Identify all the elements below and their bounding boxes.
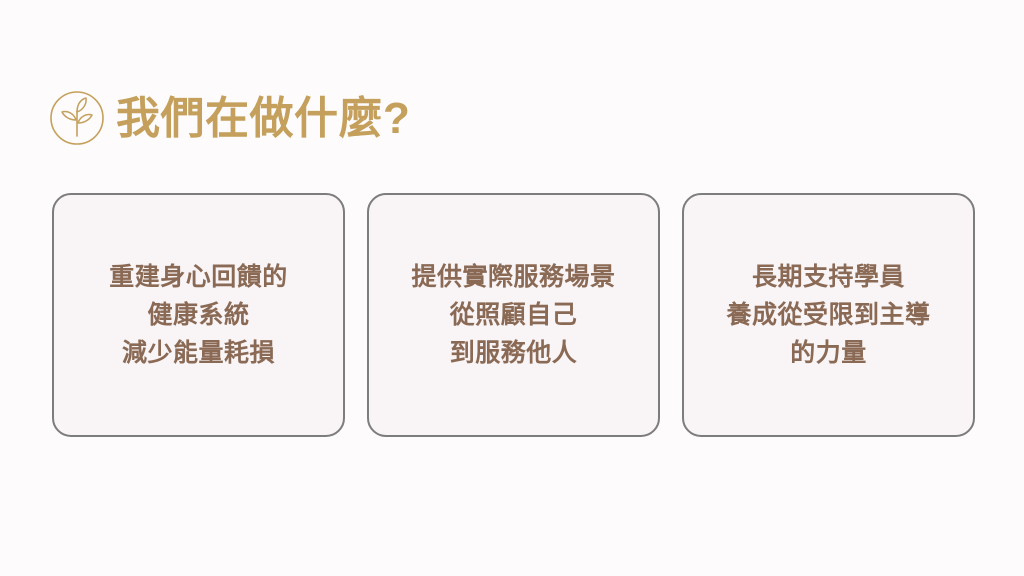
feature-card-1-text: 重建身心回饋的 健康系統 減少能量耗損 (109, 258, 288, 372)
feature-card-1: 重建身心回饋的 健康系統 減少能量耗損 (52, 193, 345, 437)
feature-card-2-text: 提供實際服務場景 從照顧自己 到服務他人 (411, 258, 615, 372)
slide-root: 我們在做什麼? 重建身心回饋的 健康系統 減少能量耗損 提供實際服務場景 從照顧… (0, 0, 1024, 576)
feature-card-2: 提供實際服務場景 從照顧自己 到服務他人 (367, 193, 660, 437)
feature-card-group: 重建身心回饋的 健康系統 減少能量耗損 提供實際服務場景 從照顧自己 到服務他人… (52, 193, 975, 437)
feature-card-3-text: 長期支持學員 養成從受限到主導 的力量 (726, 258, 930, 372)
feature-card-3: 長期支持學員 養成從受限到主導 的力量 (682, 193, 975, 437)
page-title: 我們在做什麼? (116, 97, 410, 141)
slide-header: 我們在做什麼? (48, 88, 410, 148)
sprout-in-circle-icon (48, 89, 106, 147)
